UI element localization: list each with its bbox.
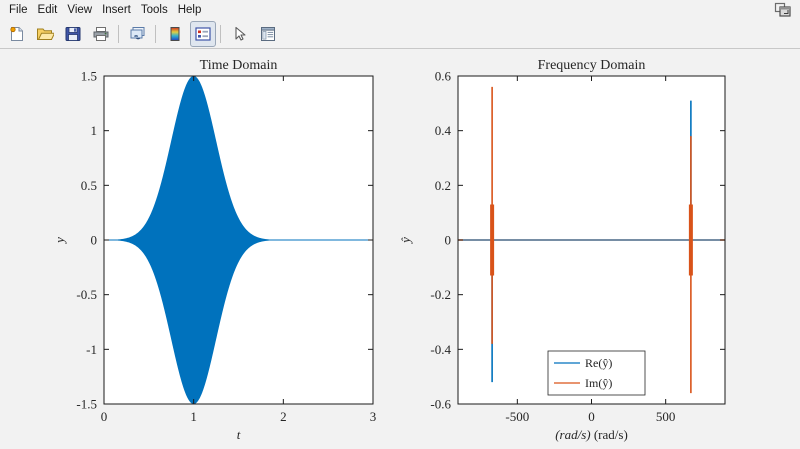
frequency-domain-ytick-label: -0.2 [430, 287, 451, 302]
menu-edit[interactable]: Edit [33, 1, 63, 19]
frequency-domain-ytick-label: -0.6 [430, 397, 451, 412]
frequency-domain-plot[interactable]: -5000500 -0.6-0.4-0.200.20.40.6 Frequenc… [398, 58, 725, 442]
frequency-domain-xlabel: (rad/s) (rad/s) [555, 427, 628, 442]
frequency-domain-ytick-labels: -0.6-0.4-0.200.20.40.6 [430, 69, 451, 412]
toolbar-separator [118, 25, 119, 43]
frequency-domain-ylabel: ŷ [398, 237, 413, 245]
time-domain-ytick-label: 0 [91, 233, 98, 248]
time-domain-xtick-label: 2 [280, 409, 287, 424]
frequency-domain-ytick-label: 0.4 [435, 123, 452, 138]
toolbar [0, 20, 800, 49]
save-figure-icon[interactable] [60, 21, 86, 47]
toolbar-separator [155, 25, 156, 43]
frequency-domain-ytick-label: 0.2 [435, 178, 451, 193]
time-domain-ytick-label: 1 [91, 123, 98, 138]
link-plot-icon[interactable] [125, 21, 151, 47]
time-domain-xtick-labels: 0123 [101, 409, 377, 424]
menu-help[interactable]: Help [173, 1, 207, 19]
frequency-domain-xtick-labels: -5000500 [505, 409, 675, 424]
legend-label-im: Im(ŷ) [585, 376, 612, 390]
menu-bar: File Edit View Insert Tools Help [0, 0, 800, 20]
time-domain-ytick-label: 0.5 [81, 178, 97, 193]
edit-plot-arrow-icon[interactable] [227, 21, 253, 47]
frequency-domain-ytick-label: 0.6 [435, 69, 452, 84]
frequency-domain-ytick-label: -0.4 [430, 342, 451, 357]
time-domain-title: Time Domain [200, 58, 278, 73]
menu-file[interactable]: File [4, 1, 33, 19]
legend-icon[interactable] [190, 21, 216, 47]
frequency-domain-ytick-label: 0 [445, 233, 452, 248]
time-domain-xtick-label: 0 [101, 409, 108, 424]
print-figure-icon[interactable] [88, 21, 114, 47]
open-file-icon[interactable] [32, 21, 58, 47]
time-domain-xlabel: t [237, 427, 241, 442]
time-domain-plot[interactable]: 0123 -1.5-1-0.500.511.5 Time Domain t y [52, 58, 376, 442]
frequency-domain-xtick-label: 0 [588, 409, 595, 424]
time-domain-ylabel: y [52, 237, 67, 245]
toolbar-separator [220, 25, 221, 43]
frequency-domain-legend[interactable]: Re(ŷ) Im(ŷ) [548, 351, 645, 395]
menu-tools[interactable]: Tools [136, 1, 173, 19]
property-inspector-icon[interactable] [255, 21, 281, 47]
time-domain-ytick-label: -1.5 [76, 397, 97, 412]
time-domain-ytick-labels: -1.5-1-0.500.511.5 [76, 69, 97, 412]
frequency-domain-xtick-label: 500 [656, 409, 676, 424]
colorbar-icon[interactable] [162, 21, 188, 47]
time-domain-xtick-label: 1 [190, 409, 197, 424]
menu-insert[interactable]: Insert [97, 1, 136, 19]
figure-window: File Edit View Insert Tools Help [0, 0, 800, 449]
time-domain-ytick-label: -0.5 [76, 287, 97, 302]
time-domain-ytick-label: -1 [86, 342, 97, 357]
figure-canvas[interactable]: 0123 -1.5-1-0.500.511.5 Time Domain t y … [0, 49, 800, 449]
legend-label-re: Re(ŷ) [585, 356, 612, 370]
time-domain-xtick-label: 3 [370, 409, 377, 424]
new-figure-icon[interactable] [4, 21, 30, 47]
frequency-domain-xtick-label: -500 [505, 409, 529, 424]
plots-svg: 0123 -1.5-1-0.500.511.5 Time Domain t y … [0, 49, 800, 449]
menu-view[interactable]: View [62, 1, 97, 19]
dock-figure-icon[interactable] [774, 2, 792, 18]
frequency-domain-title: Frequency Domain [538, 58, 646, 73]
time-domain-ytick-label: 1.5 [81, 69, 97, 84]
